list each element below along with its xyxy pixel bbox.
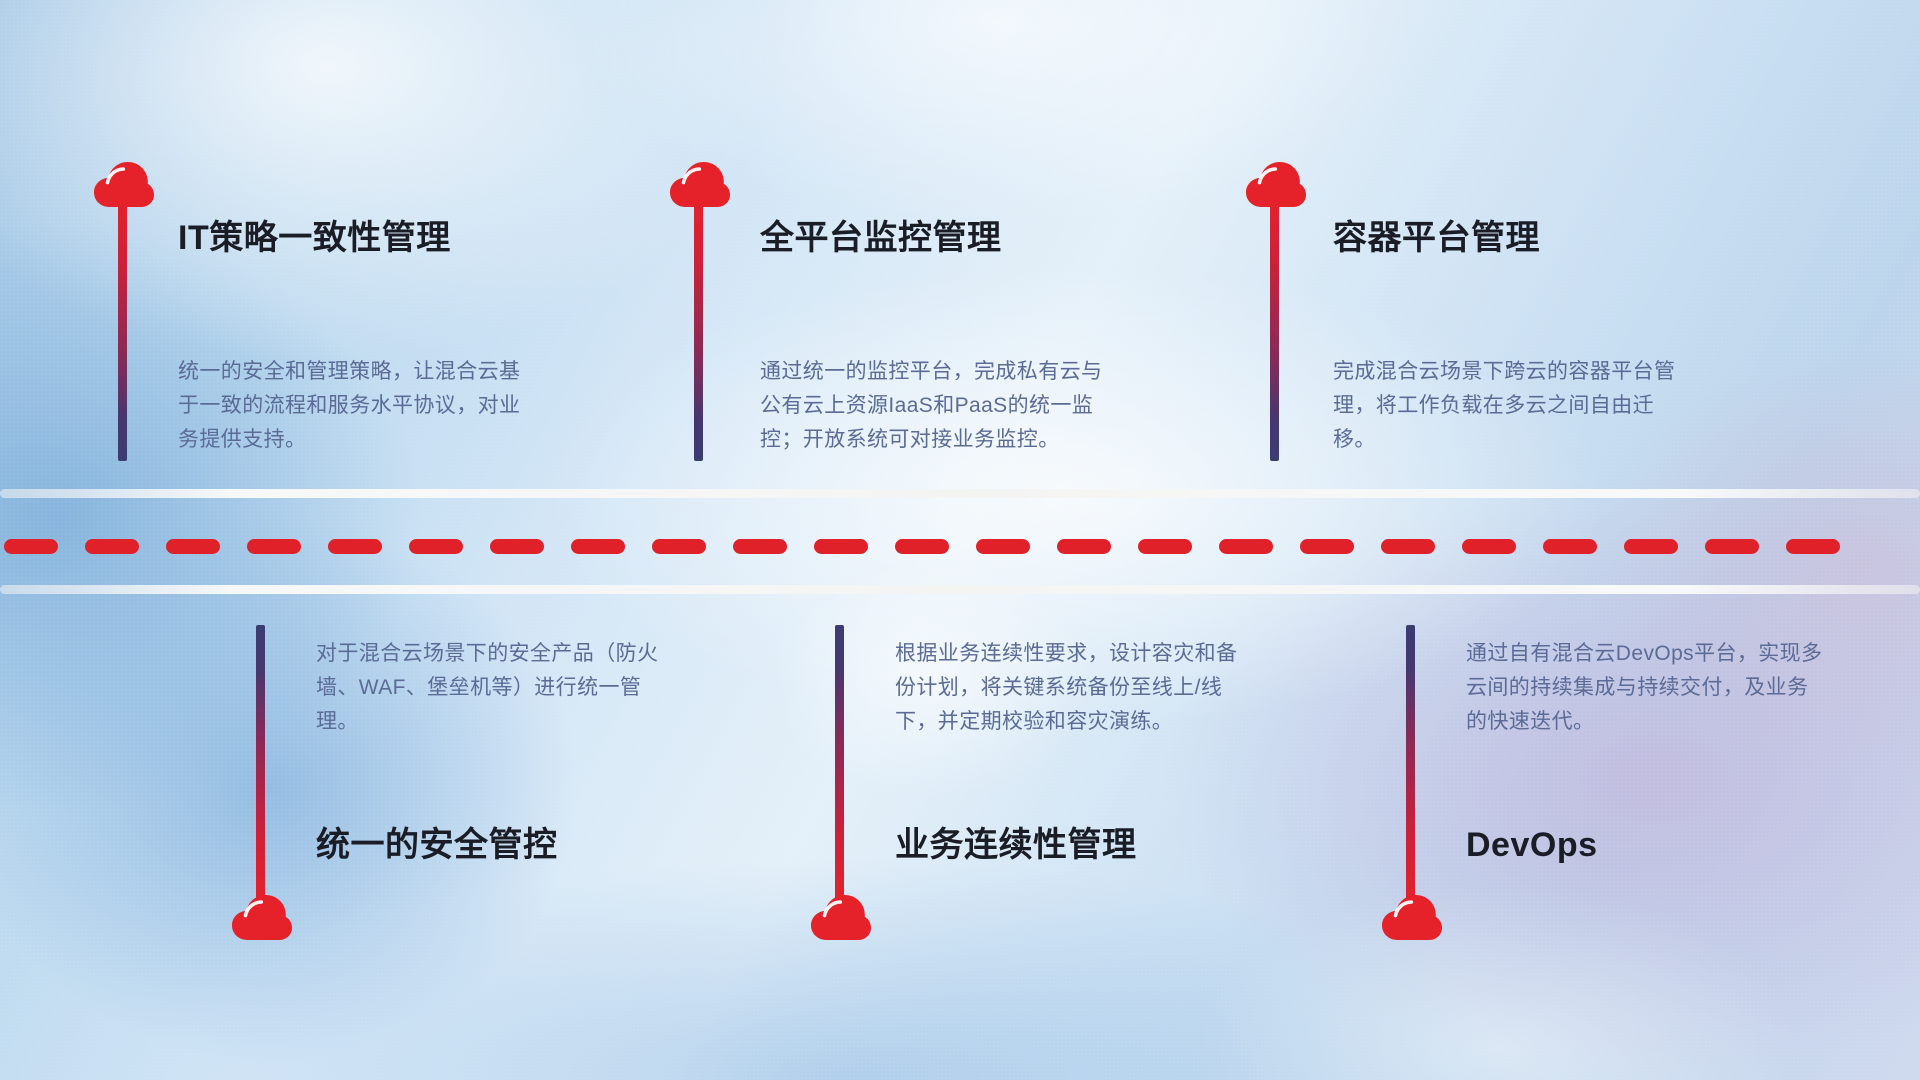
road-dash: [247, 539, 301, 554]
road-dash: [1138, 539, 1192, 554]
connector-stem: [1406, 625, 1415, 900]
cloud-icon: [669, 160, 731, 208]
road-dash: [1300, 539, 1354, 554]
road-dash: [1219, 539, 1273, 554]
card-title: 统一的安全管控: [316, 827, 558, 864]
road-dash: [166, 539, 220, 554]
connector-stem: [256, 625, 265, 900]
road-dash: [1462, 539, 1516, 554]
road-dash: [409, 539, 463, 554]
road-dash: [571, 539, 625, 554]
card-title: 容器平台管理: [1333, 220, 1540, 257]
connector-stem: [1270, 203, 1279, 461]
cloud-icon: [231, 893, 293, 941]
road-dash: [1543, 539, 1597, 554]
road-dash: [895, 539, 949, 554]
card-body: 统一的安全和管理策略，让混合云基于一致的流程和服务水平协议，对业务提供支持。: [178, 355, 538, 457]
road-dash: [733, 539, 787, 554]
cloud-icon: [93, 160, 155, 208]
road-dash: [328, 539, 382, 554]
card-title: 全平台监控管理: [760, 220, 1002, 257]
road-line-bottom: [0, 585, 1920, 594]
cloud-icon: [810, 893, 872, 941]
card-body: 完成混合云场景下跨云的容器平台管理，将工作负载在多云之间自由迁移。: [1333, 355, 1693, 457]
connector-stem: [118, 203, 127, 461]
road-dash: [1624, 539, 1678, 554]
road-dash: [976, 539, 1030, 554]
cloud-icon: [1245, 160, 1307, 208]
road-dash: [652, 539, 706, 554]
road-line-top: [0, 489, 1920, 498]
road-dash: [85, 539, 139, 554]
infographic-canvas: IT策略一致性管理 统一的安全和管理策略，让混合云基于一致的流程和服务水平协议，…: [0, 0, 1920, 1080]
cloud-icon: [1381, 893, 1443, 941]
card-title: DevOps: [1466, 827, 1598, 864]
card-body: 通过统一的监控平台，完成私有云与公有云上资源IaaS和PaaS的统一监控；开放系…: [760, 355, 1120, 457]
road-dash: [1381, 539, 1435, 554]
connector-stem: [835, 625, 844, 900]
connector-stem: [694, 203, 703, 461]
card-title: 业务连续性管理: [895, 827, 1137, 864]
card-body: 根据业务连续性要求，设计容灾和备份计划，将关键系统备份至线上/线下，并定期校验和…: [895, 637, 1255, 739]
road-dash: [1705, 539, 1759, 554]
road-dash: [1057, 539, 1111, 554]
road-dash: [814, 539, 868, 554]
card-body: 对于混合云场景下的安全产品（防火墙、WAF、堡垒机等）进行统一管理。: [316, 637, 676, 739]
road-dashes: [0, 538, 1920, 554]
road-dash: [1786, 539, 1840, 554]
road-dash: [4, 539, 58, 554]
road-dash: [490, 539, 544, 554]
card-body: 通过自有混合云DevOps平台，实现多云间的持续集成与持续交付，及业务的快速迭代…: [1466, 637, 1826, 739]
card-title: IT策略一致性管理: [178, 220, 451, 257]
